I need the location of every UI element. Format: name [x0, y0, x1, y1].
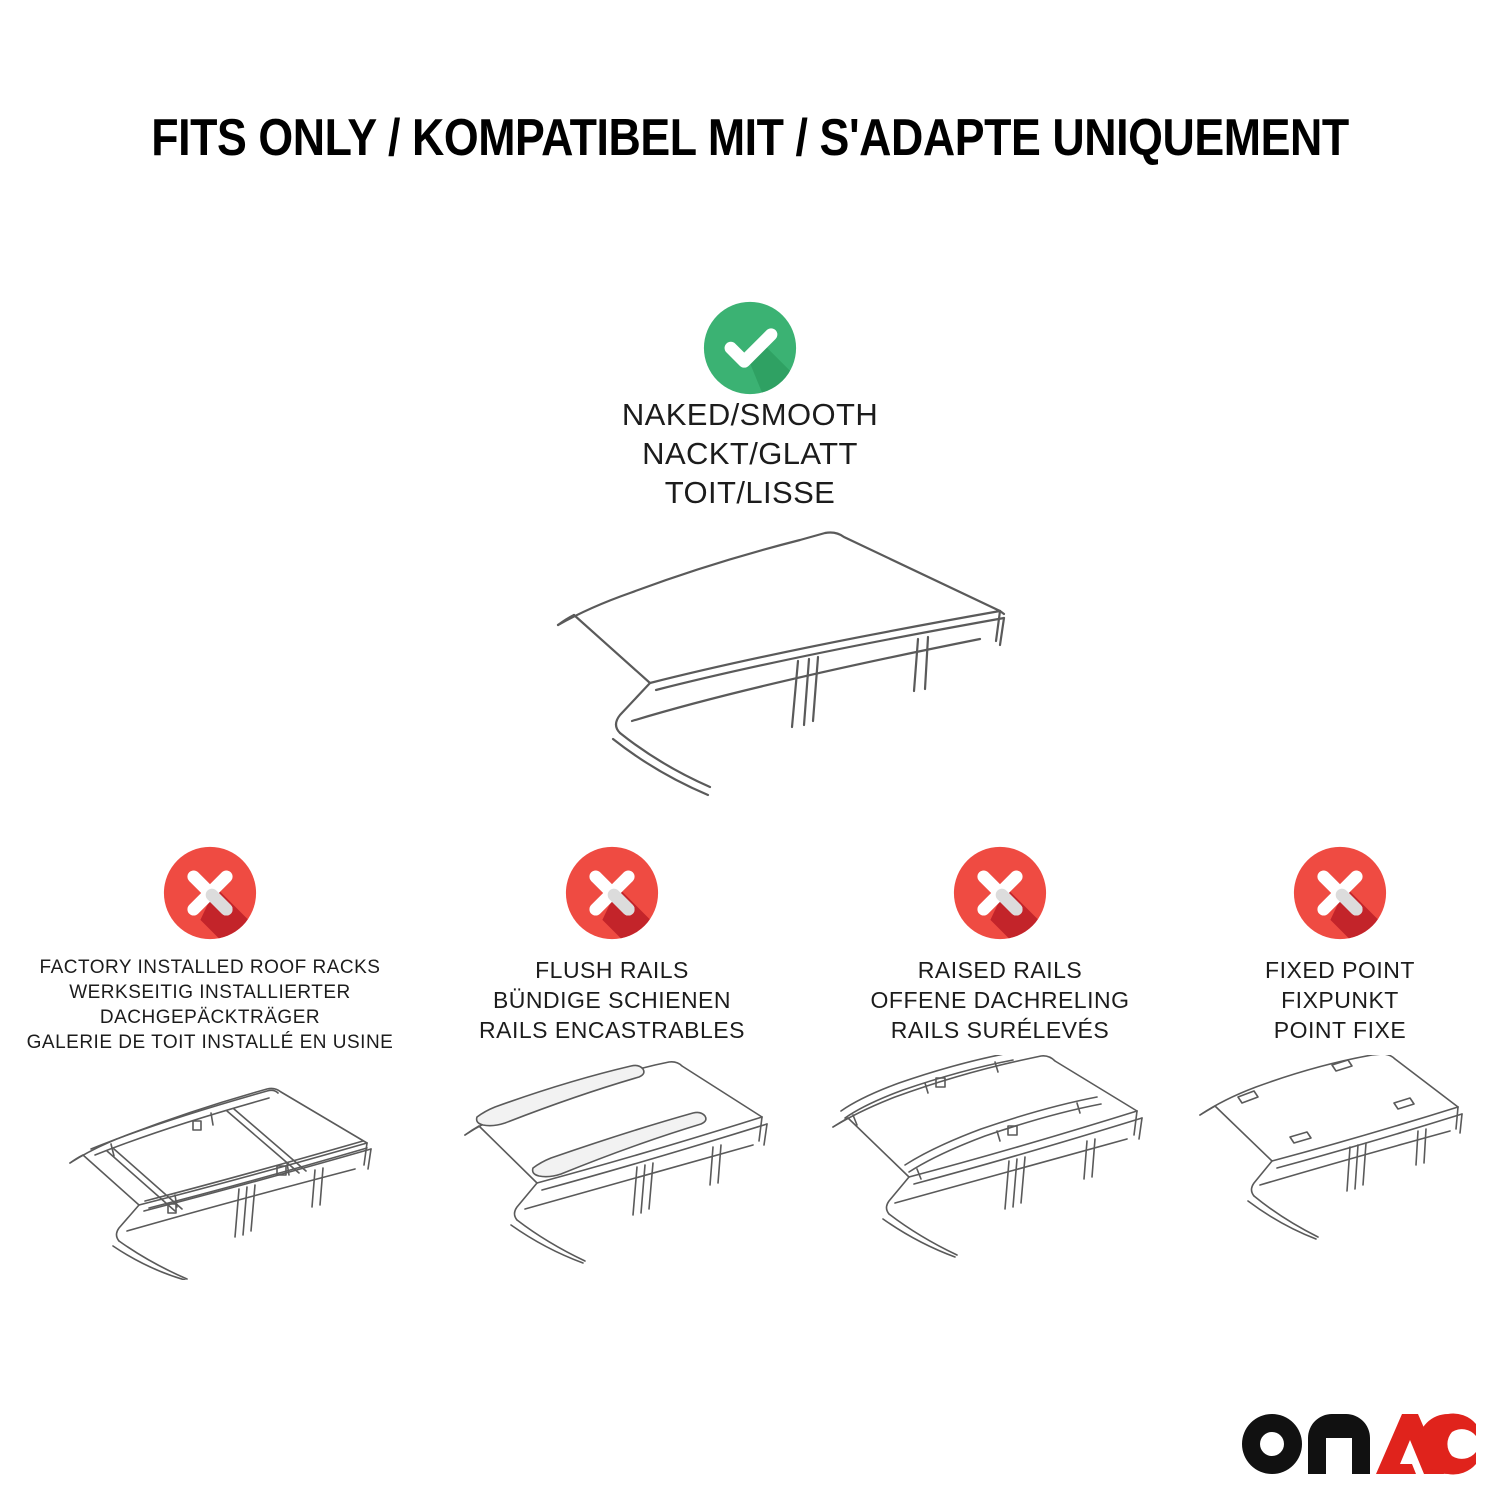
- fixed-point-illustration: [1190, 1055, 1490, 1270]
- logo-letter-o: [1242, 1414, 1302, 1474]
- incompatible-label-line-2: OFFENE DACHRELING: [805, 985, 1195, 1015]
- naked-smooth-roof-illustration: [480, 515, 1040, 805]
- incompatible-label-line-1: FACTORY INSTALLED ROOF RACKS: [15, 955, 405, 980]
- incompatible-label-line-4: GALERIE DE TOIT INSTALLÉ EN USINE: [15, 1030, 405, 1055]
- incompatible-label-line-3: RAILS SURÉLEVÉS: [805, 1015, 1195, 1045]
- compatible-label-line-1: NAKED/SMOOTH: [450, 395, 1050, 434]
- compatibility-infographic: FITS ONLY / KOMPATIBEL MIT / S'ADAPTE UN…: [0, 0, 1500, 1500]
- incompatible-label-line-2: BÜNDIGE SCHIENEN: [417, 985, 807, 1015]
- incompatible-label: RAISED RAILS OFFENE DACHRELING RAILS SUR…: [805, 955, 1195, 1045]
- incompatible-item-flush-rails: FLUSH RAILS BÜNDIGE SCHIENEN RAILS ENCAS…: [417, 845, 807, 1270]
- flush-rails-illustration: [417, 1055, 807, 1270]
- logo-letter-m: [1308, 1414, 1370, 1474]
- incompatible-item-factory-installed-roof-racks: FACTORY INSTALLED ROOF RACKS WERKSEITIG …: [15, 845, 405, 1280]
- page-title: FITS ONLY / KOMPATIBEL MIT / S'ADAPTE UN…: [105, 108, 1395, 168]
- incompatible-item-raised-rails: RAISED RAILS OFFENE DACHRELING RAILS SUR…: [805, 845, 1195, 1270]
- incompatible-label-line-2: WERKSEITIG INSTALLIERTER: [15, 980, 405, 1005]
- cross-circle-icon: [162, 845, 258, 941]
- compatible-label: NAKED/SMOOTH NACKT/GLATT TOIT/LISSE: [450, 395, 1050, 512]
- incompatible-label-line-2: FIXPUNKT: [1190, 985, 1490, 1015]
- cross-circle-icon: [1292, 845, 1388, 941]
- incompatible-label-line-1: RAISED RAILS: [805, 955, 1195, 985]
- compatible-label-line-3: TOIT/LISSE: [450, 473, 1050, 512]
- raised-rails-illustration: [805, 1055, 1195, 1270]
- incompatible-label-line-3: DACHGEPÄCKTRÄGER: [15, 1005, 405, 1030]
- incompatible-label: FIXED POINT FIXPUNKT POINT FIXE: [1190, 955, 1490, 1045]
- incompatible-label: FLUSH RAILS BÜNDIGE SCHIENEN RAILS ENCAS…: [417, 955, 807, 1045]
- factory-roof-rack-illustration: [15, 1065, 405, 1280]
- cross-circle-icon: [952, 845, 1048, 941]
- incompatible-label-line-1: FLUSH RAILS: [417, 955, 807, 985]
- omac-logo: [1238, 1410, 1476, 1482]
- incompatible-label-line-3: RAILS ENCASTRABLES: [417, 1015, 807, 1045]
- incompatible-label-line-1: FIXED POINT: [1190, 955, 1490, 985]
- compatible-label-line-2: NACKT/GLATT: [450, 434, 1050, 473]
- cross-circle-icon: [564, 845, 660, 941]
- incompatible-label-line-3: POINT FIXE: [1190, 1015, 1490, 1045]
- incompatible-label: FACTORY INSTALLED ROOF RACKS WERKSEITIG …: [15, 955, 405, 1055]
- incompatible-item-fixed-point: FIXED POINT FIXPUNKT POINT FIXE: [1190, 845, 1490, 1270]
- check-circle-icon: [702, 300, 798, 396]
